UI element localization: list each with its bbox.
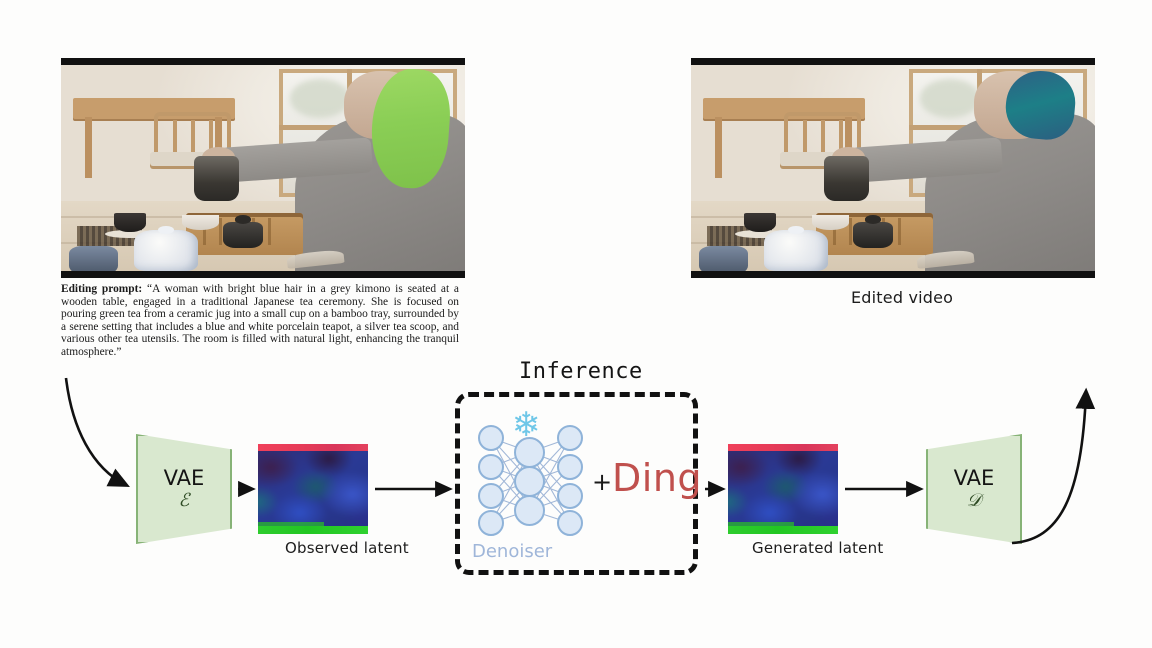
- network-node: [478, 425, 504, 451]
- editing-prompt-label: Editing prompt:: [61, 283, 142, 295]
- generated-latent-label: Generated latent: [752, 539, 883, 557]
- dark-tea-cup: [744, 213, 776, 232]
- generated-latent-image: [728, 444, 838, 534]
- editing-prompt: Editing prompt: “A woman with bright blu…: [61, 283, 459, 359]
- source-video-frame: [61, 58, 465, 278]
- decoder-to-edited-video-arrow: [1012, 392, 1086, 543]
- plus-sign: +: [592, 468, 612, 496]
- edited-scene: [691, 65, 1095, 271]
- network-node: [557, 510, 583, 536]
- inference-title: Inference: [519, 359, 643, 384]
- network-node: [557, 425, 583, 451]
- latent-red-strip: [728, 444, 838, 451]
- network-node: [478, 510, 504, 536]
- observed-latent-label: Observed latent: [285, 539, 409, 557]
- denoiser-label: Denoiser: [472, 541, 552, 562]
- ceramic-jug: [824, 156, 868, 201]
- porcelain-teapot: [134, 230, 199, 271]
- dark-tea-cup: [114, 213, 146, 232]
- vae-decoder: VAE 𝒟: [926, 434, 1022, 544]
- ding-module-label: Ding: [612, 456, 702, 500]
- network-node: [478, 483, 504, 509]
- small-cup: [182, 215, 218, 229]
- small-cup: [812, 215, 848, 229]
- figure-canvas: Edited video Editing prompt: “A woman wi…: [0, 0, 1152, 648]
- network-node: [478, 454, 504, 480]
- vae-encoder: VAE ℰ: [136, 434, 232, 544]
- edited-video-label: Edited video: [851, 288, 953, 307]
- network-node: [557, 483, 583, 509]
- porcelain-teapot: [764, 230, 829, 271]
- latent-green-strip: [728, 526, 838, 534]
- edited-video-frame: [691, 58, 1095, 278]
- latent-green-strip: [258, 526, 368, 534]
- network-node: [557, 454, 583, 480]
- ceramic-jug: [194, 156, 238, 201]
- observed-latent-image: [258, 444, 368, 534]
- small-teapot: [699, 246, 747, 271]
- small-teapot: [69, 246, 117, 271]
- latent-red-strip: [258, 444, 368, 451]
- prompt-to-encoder-arrow: [66, 378, 126, 485]
- latent-noise: [728, 444, 838, 534]
- network-node: [514, 466, 545, 497]
- vae-decoder-title: VAE: [954, 468, 995, 489]
- vae-decoder-subscript: 𝒟: [967, 492, 981, 510]
- vae-encoder-subscript: ℰ: [179, 492, 190, 510]
- source-scene: [61, 65, 465, 271]
- network-node: [514, 495, 545, 526]
- black-kettle: [223, 222, 263, 249]
- vae-encoder-title: VAE: [164, 468, 205, 489]
- latent-noise: [258, 444, 368, 534]
- snowflake-icon: ❄: [508, 408, 544, 444]
- black-kettle: [853, 222, 893, 249]
